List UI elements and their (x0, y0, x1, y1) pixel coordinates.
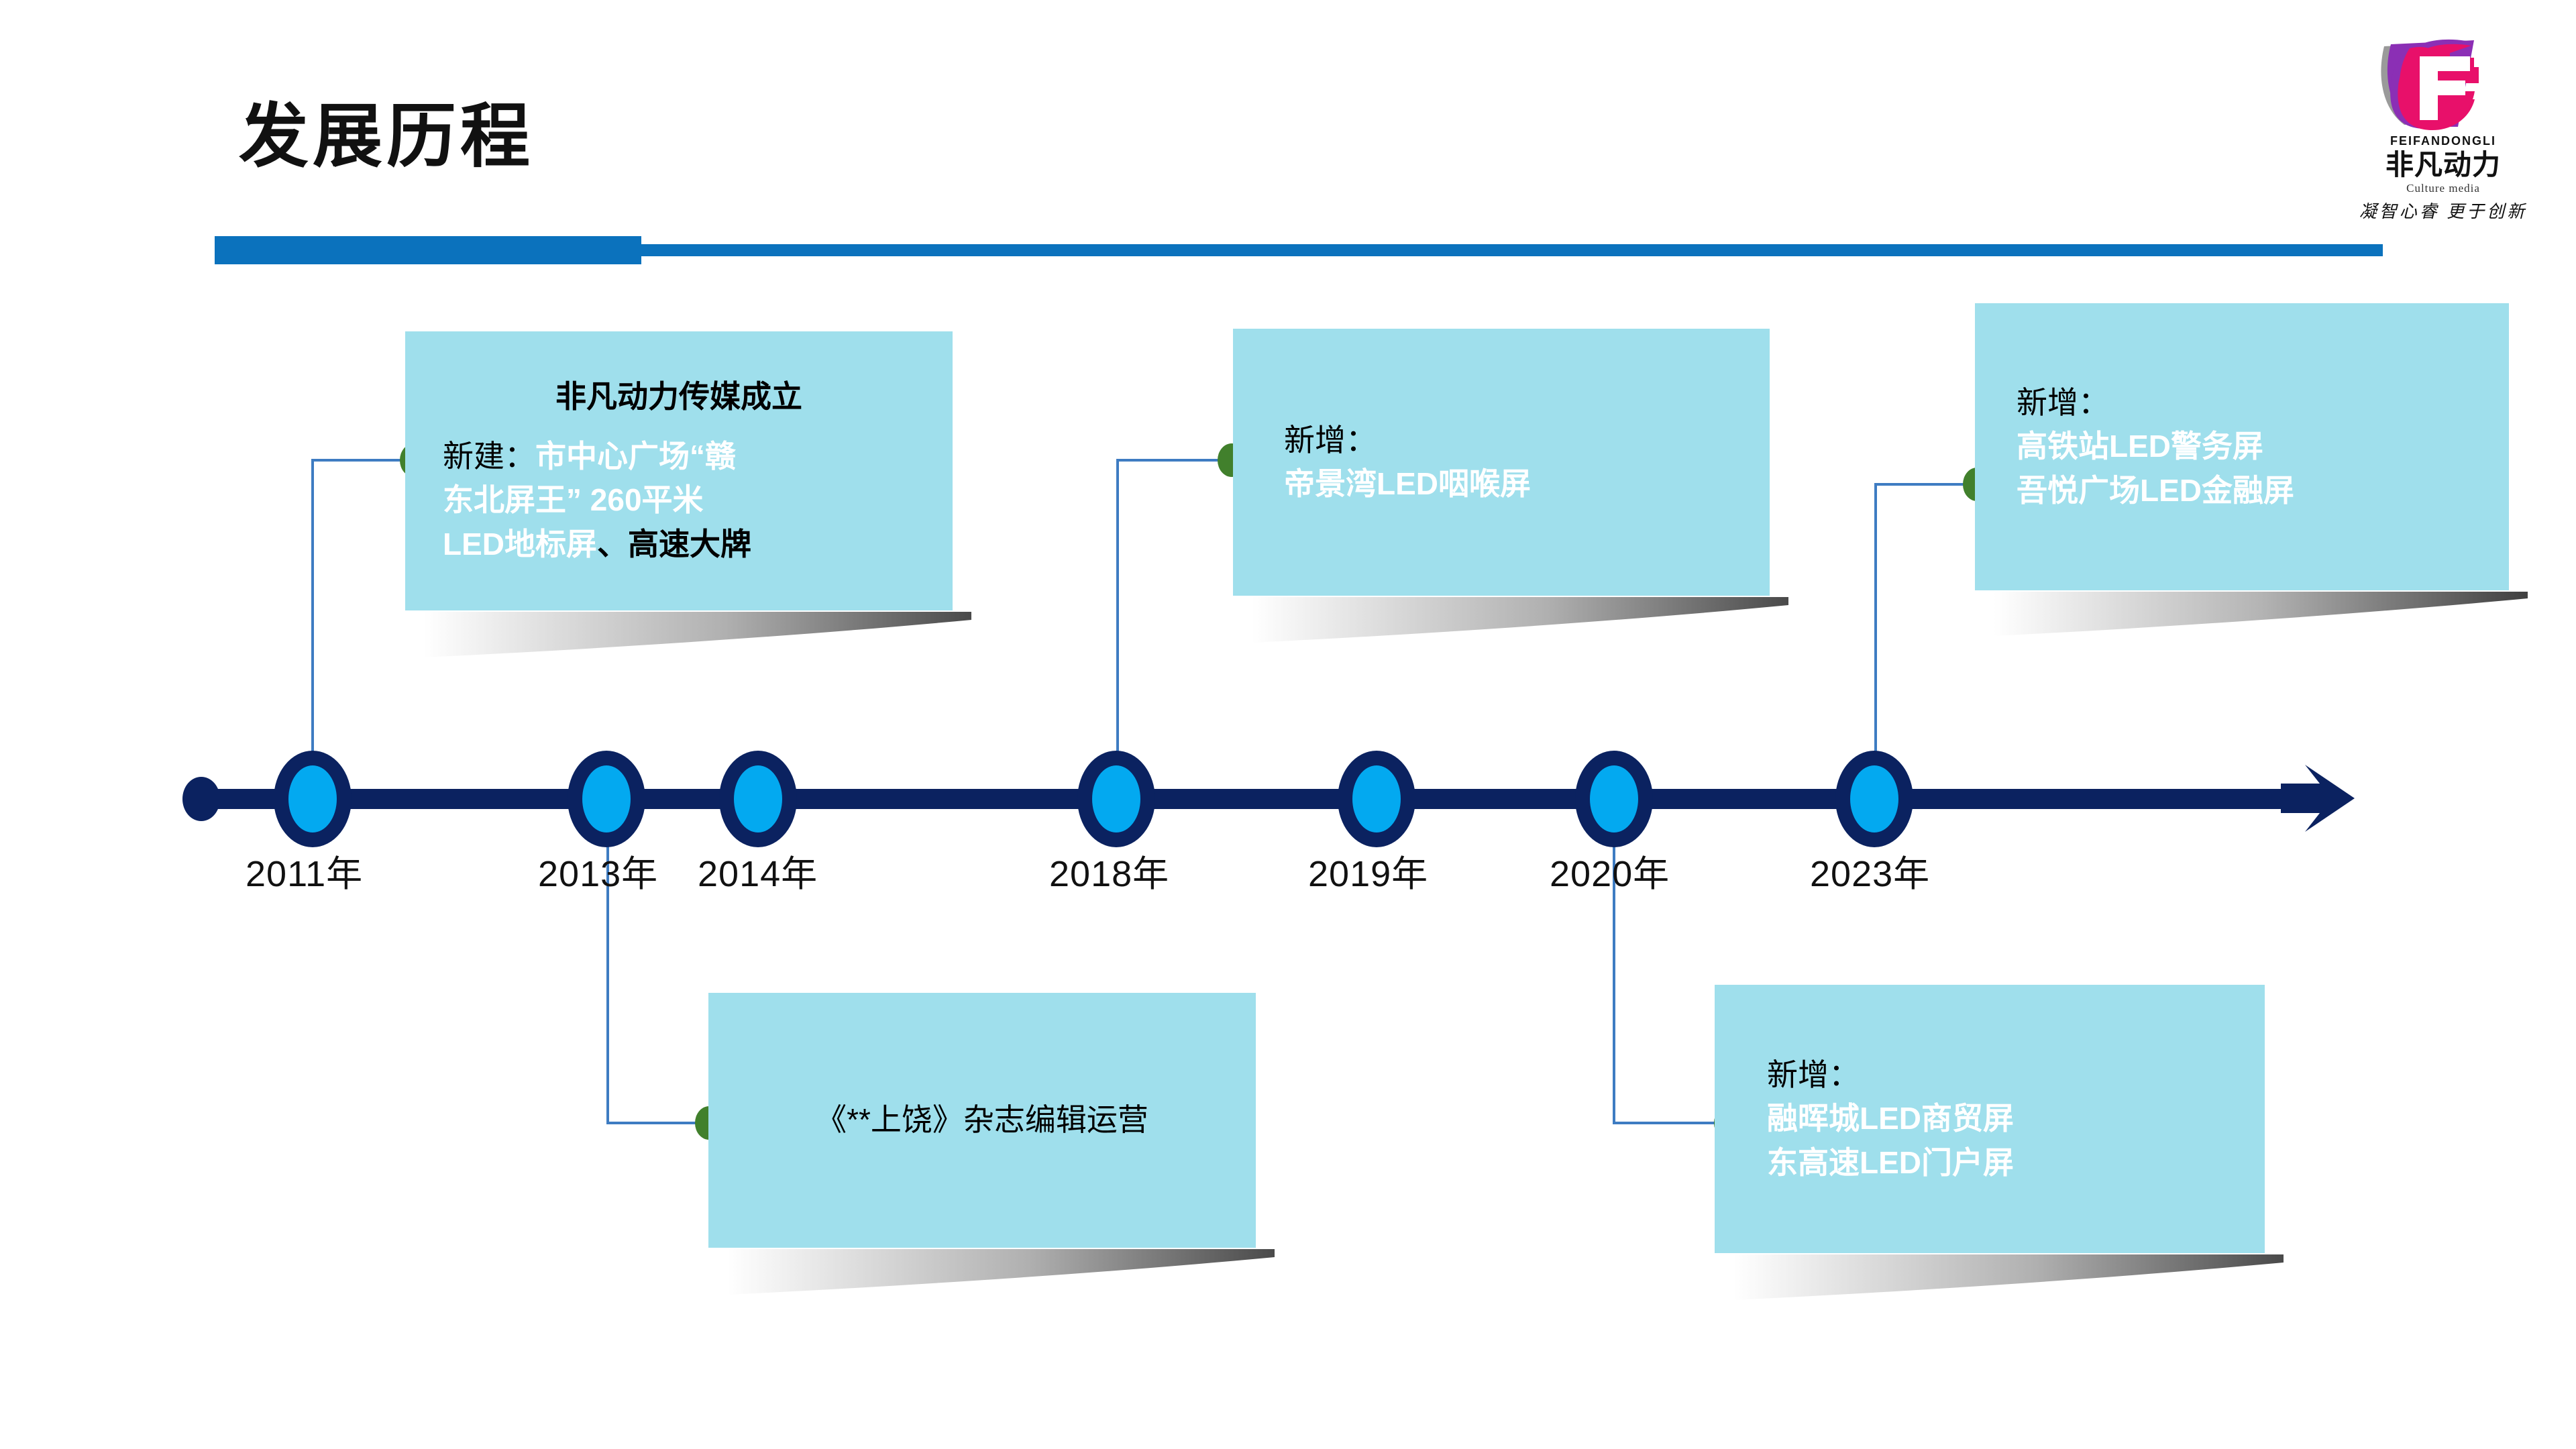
logo-tagline-cn: 凝智心睿 更于创新 (2359, 202, 2528, 221)
page-title: 发展历程 (239, 101, 534, 174)
timeline-year-2019: 2019年 (1308, 844, 1428, 897)
timeline-year-2018: 2018年 (1049, 844, 1169, 897)
card-shadow (1733, 1253, 2284, 1308)
card-2011-line2: 东北屏王” 260平米 (443, 478, 931, 522)
card-2020-line2: 东高速LED门户屏 (1767, 1141, 2246, 1185)
slide-canvas: 发展历程 FEIFANDONGLI 非凡动力 Culture media 凝智心… (0, 0, 2576, 1449)
timeline-year-2013: 2013年 (538, 844, 658, 897)
timeline-year-2023: 2023年 (1810, 844, 1930, 897)
card-2011-line3-black: 、高速大牌 (597, 527, 751, 561)
card-2020-line1: 融晖城LED商贸屏 (1767, 1097, 2246, 1140)
timeline-node-2011[interactable] (274, 751, 352, 847)
card-shadow (1252, 596, 1788, 651)
card-2023-label: 新增： (2017, 381, 2490, 425)
card-2011[interactable]: 非凡动力传媒成立 新建：市中心广场“赣 东北屏王” 260平米 LED地标屏、高… (405, 331, 953, 610)
timeline-year-2014: 2014年 (698, 844, 818, 897)
card-2023-line2: 吾悦广场LED金融屏 (2017, 469, 2490, 513)
card-2018-line1: 帝景湾LED咽喉屏 (1284, 462, 1748, 506)
timeline-node-2023[interactable] (1835, 751, 1913, 847)
card-2020[interactable]: 新增： 融晖城LED商贸屏 东高速LED门户屏 (1715, 985, 2265, 1253)
timeline-node-2014[interactable] (719, 751, 797, 847)
card-2013[interactable]: 《**上饶》杂志编辑运营 (708, 993, 1256, 1248)
company-logo: FEIFANDONGLI 非凡动力 Culture media 凝智心睿 更于创… (2343, 16, 2544, 224)
card-2011-heading: 非凡动力传媒成立 (405, 376, 953, 417)
card-2023[interactable]: 新增： 高铁站LED警务屏 吾悦广场LED金融屏 (1975, 303, 2509, 590)
timeline-node-2019[interactable] (1338, 751, 1415, 847)
title-underline-block (215, 236, 641, 264)
card-2011-label: 新建： (443, 439, 535, 474)
timeline-node-2020[interactable] (1575, 751, 1653, 847)
timeline-node-2018[interactable] (1077, 751, 1155, 847)
logo-company-cn: 非凡动力 (2385, 149, 2501, 180)
title-underline-rule (641, 244, 2383, 256)
timeline-year-2020: 2020年 (1550, 844, 1670, 897)
card-2013-body: 《**上饶》杂志编辑运营 (708, 1098, 1256, 1142)
timeline-year-2011: 2011年 (246, 844, 363, 897)
timeline-axis (201, 789, 2328, 809)
card-2018[interactable]: 新增： 帝景湾LED咽喉屏 (1233, 329, 1770, 596)
card-2018-label: 新增： (1284, 419, 1748, 462)
card-2011-line3-white: LED地标屏 (443, 527, 597, 561)
card-2023-line1: 高铁站LED警务屏 (2017, 425, 2490, 468)
logo-romanized: FEIFANDONGLI (2390, 134, 2496, 148)
timeline-node-2013[interactable] (568, 751, 645, 847)
card-shadow (727, 1248, 1275, 1303)
timeline-arrow-icon (2281, 765, 2355, 835)
card-shadow (424, 610, 971, 665)
card-shadow (1994, 590, 2528, 645)
logo-mark-icon (2381, 40, 2479, 130)
logo-tagline-en: Culture media (2406, 182, 2480, 195)
card-2011-line1: 市中心广场“赣 (535, 439, 736, 474)
card-2020-label: 新增： (1767, 1053, 2246, 1097)
